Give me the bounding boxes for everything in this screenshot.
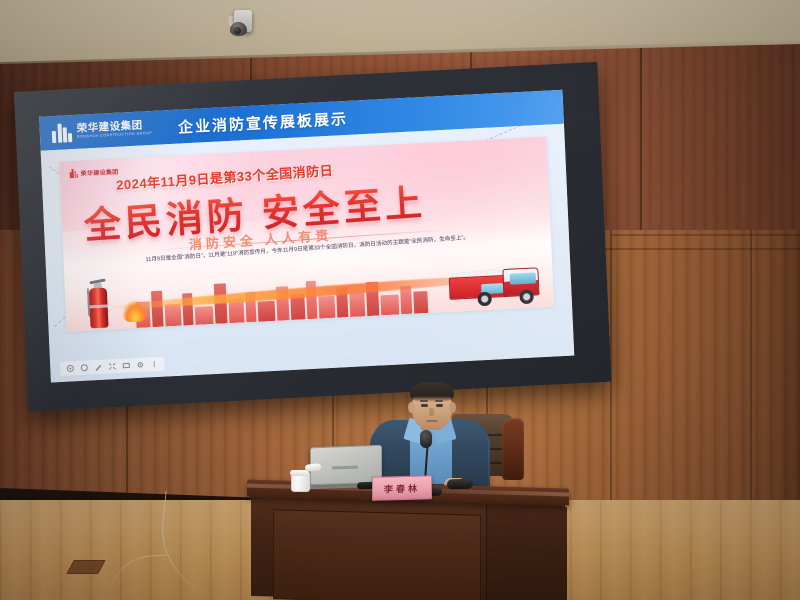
- company-logo: 荣华建设集团 RONGHUA CONSTRUCTION GROUP: [51, 118, 152, 142]
- wall-panel-line: [612, 234, 800, 236]
- projection-screen[interactable]: 荣华建设集团 RONGHUA CONSTRUCTION GROUP 企业消防宣传…: [14, 62, 611, 412]
- more-icon[interactable]: [150, 360, 158, 368]
- building-bars-icon: [51, 123, 71, 143]
- truck-wheel: [477, 292, 492, 307]
- fire-extinguisher-icon: [86, 271, 110, 328]
- podium-desk: [247, 484, 569, 600]
- podium-side-panel: [486, 505, 567, 600]
- skyline-building: [380, 294, 399, 315]
- nose: [429, 408, 434, 416]
- conference-unit: [447, 479, 473, 490]
- microphone-head: [420, 430, 432, 448]
- flame-icon: [121, 299, 148, 322]
- slide-toolbar[interactable]: [60, 357, 164, 376]
- hair: [410, 382, 454, 402]
- fire-safety-poster: 荣华建设集团 2024年11月9日是第33个全国消防日 全民消防 安全至上 消防…: [59, 137, 554, 332]
- gear-icon[interactable]: [136, 361, 144, 369]
- circle-icon[interactable]: [80, 364, 88, 372]
- eye-left: [421, 404, 428, 407]
- camera-lens-icon: [234, 27, 241, 34]
- expand-icon[interactable]: [108, 362, 116, 370]
- skyline-building: [413, 291, 428, 314]
- wall-seam: [640, 44, 642, 244]
- building-bars-icon: [69, 169, 77, 178]
- nameplate: 李春林: [372, 475, 432, 501]
- skyline-building: [195, 306, 214, 325]
- skyline-building: [165, 304, 182, 327]
- podium-inset-panel: [273, 509, 481, 600]
- presentation-room-scene: 荣华建设集团 RONGHUA CONSTRUCTION GROUP 企业消防宣传…: [0, 0, 800, 600]
- ear-left: [408, 402, 415, 413]
- security-camera: [228, 10, 254, 40]
- skyline-building: [400, 286, 412, 315]
- water-cup: [291, 470, 308, 492]
- cursor-icon[interactable]: [66, 364, 74, 372]
- ear-right: [449, 402, 456, 413]
- rectangle-icon[interactable]: [122, 361, 130, 369]
- company-logo-text: 荣华建设集团 RONGHUA CONSTRUCTION GROUP: [76, 120, 152, 140]
- skyline-building: [318, 296, 335, 319]
- slide-title: 企业消防宣传展板展示: [178, 107, 349, 137]
- chair-armrest: [502, 418, 524, 480]
- pen-icon[interactable]: [94, 363, 102, 371]
- skyline-building: [258, 301, 276, 322]
- eyebrow-right: [435, 400, 443, 402]
- slide-body: 荣华建设集团 2024年11月9日是第33个全国消防日 全民消防 安全至上 消防…: [41, 124, 575, 383]
- skyline-building: [151, 291, 164, 328]
- eye-right: [436, 404, 443, 407]
- wall-panel-line: [750, 230, 752, 510]
- truck-wheel: [519, 290, 534, 305]
- nameplate-text: 李春林: [384, 481, 420, 495]
- fire-truck-icon: [446, 251, 540, 308]
- eyebrow-left: [420, 400, 428, 402]
- screen-display-area[interactable]: 荣华建设集团 RONGHUA CONSTRUCTION GROUP 企业消防宣传…: [39, 90, 574, 383]
- poster-brand-text: 荣华建设集团: [80, 167, 118, 178]
- skyline-building: [349, 292, 365, 317]
- truck-windshield: [510, 272, 536, 284]
